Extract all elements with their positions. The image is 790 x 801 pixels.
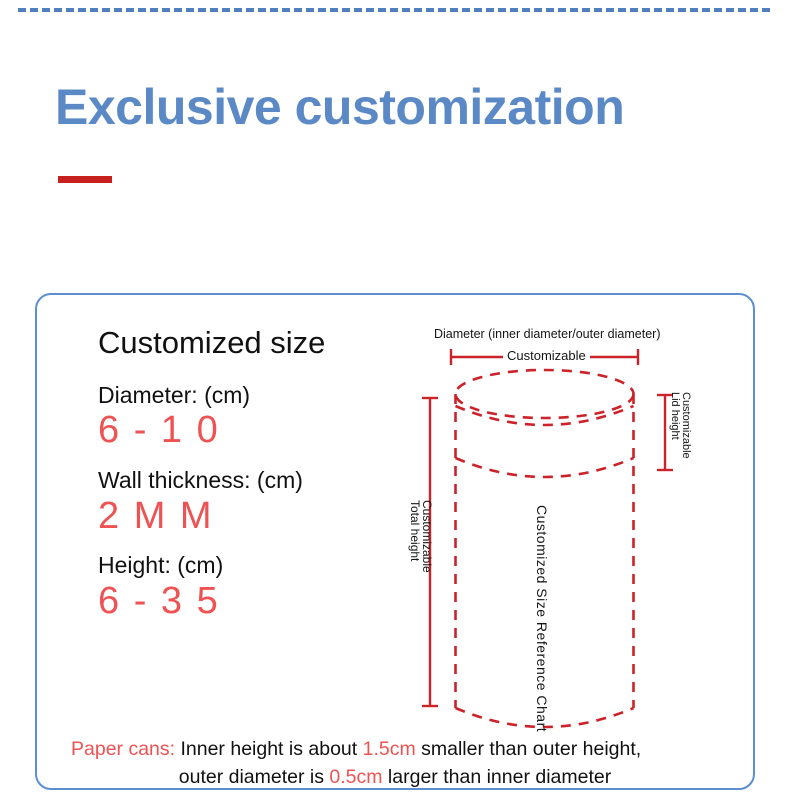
right-dimension-label-lid-height: Lid height — [669, 392, 680, 476]
title-accent-bar — [58, 176, 112, 183]
spec-item-diameter: Diameter: (cm) 6 - 1 0 — [98, 382, 398, 453]
left-dimension-label-customizable: Customizable — [421, 500, 433, 620]
footnote-line2-value: 0.5cm — [329, 766, 382, 788]
spec-label-height: Height: (cm) — [98, 552, 398, 578]
diagram-top-caption: Diameter (inner diameter/outer diameter) — [434, 327, 660, 341]
footnote-lead: Paper cans: — [71, 738, 175, 760]
left-dimension-labels: Total height Customizable — [409, 500, 433, 620]
top-dashed-divider — [18, 8, 770, 12]
spec-item-height: Height: (cm) 6 - 3 5 — [98, 552, 398, 623]
spec-value-diameter: 6 - 1 0 — [98, 409, 398, 453]
footnote-line-1: Paper cans: Inner height is about 1.5cm … — [45, 736, 745, 764]
spec-heading: Customized size — [98, 327, 398, 358]
right-dimension-labels: Lid height Customizable — [669, 392, 691, 476]
top-dimension-label: Customizable — [503, 348, 590, 363]
footnote-line1-value: 1.5cm — [363, 738, 416, 760]
cylinder-body-caption: Customized Size Reference Chart — [534, 505, 550, 732]
footnote-line2-part1: outer diameter is — [179, 766, 330, 788]
spec-item-wall-thickness: Wall thickness: (cm) 2 M M — [98, 467, 398, 538]
footnote-line-2: outer diameter is 0.5cm larger than inne… — [45, 764, 745, 792]
cylinder-diagram — [400, 318, 700, 738]
right-dimension-label-customizable: Customizable — [680, 392, 691, 476]
footnote-line1-part1: Inner height is about — [175, 738, 363, 760]
spec-label-diameter: Diameter: (cm) — [98, 382, 398, 408]
cylinder-diagram-svg — [400, 318, 700, 738]
footnote-line2-part2: larger than inner diameter — [383, 766, 612, 788]
spec-value-wall-thickness: 2 M M — [98, 495, 398, 539]
footnote-line1-part2: smaller than outer height, — [416, 738, 641, 760]
spec-label-wall-thickness: Wall thickness: (cm) — [98, 467, 398, 493]
page-title: Exclusive customization — [55, 78, 624, 136]
footnote: Paper cans: Inner height is about 1.5cm … — [45, 736, 745, 791]
spec-value-height: 6 - 3 5 — [98, 580, 398, 624]
spec-list: Customized size Diameter: (cm) 6 - 1 0 W… — [98, 327, 398, 637]
